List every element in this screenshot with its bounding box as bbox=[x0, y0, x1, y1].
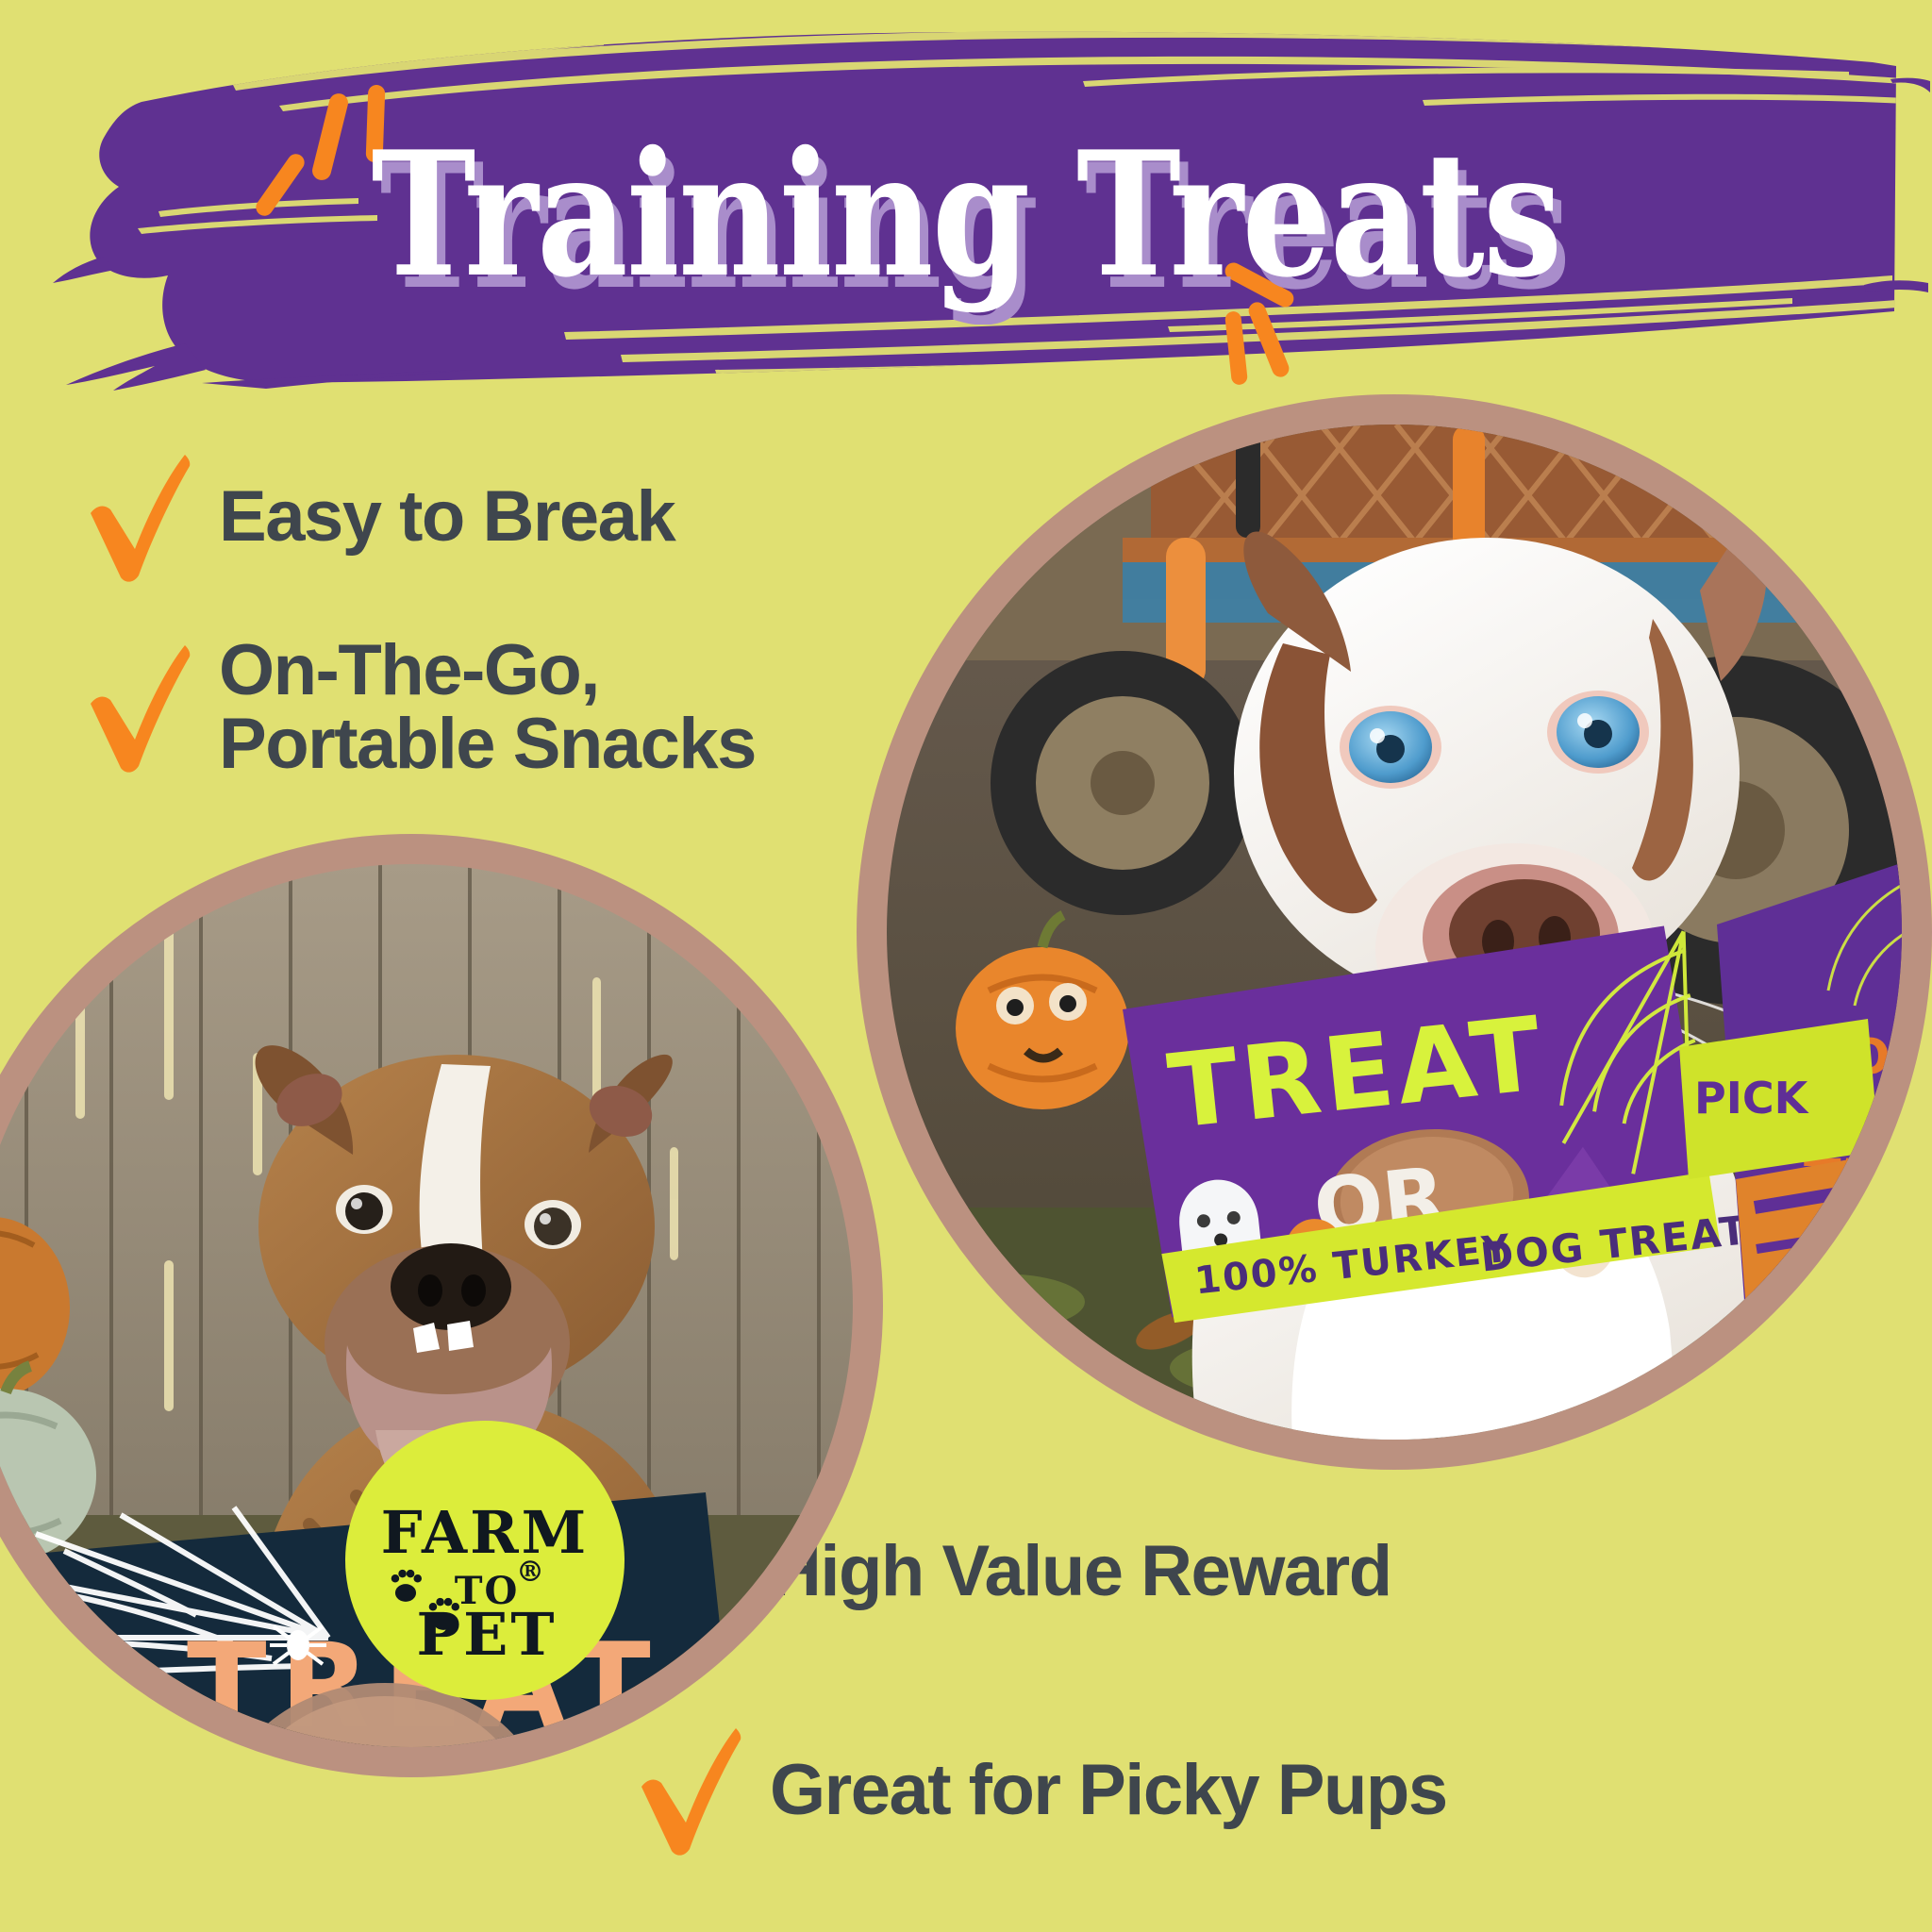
svg-text:FARM: FARM bbox=[381, 1498, 590, 1567]
svg-text:PICK: PICK bbox=[1694, 1073, 1810, 1124]
feature-label: High Value Reward bbox=[770, 1535, 1391, 1608]
page-title: Training Treats bbox=[174, 125, 1757, 305]
header-banner: Training Treats bbox=[0, 0, 1932, 443]
feature-label: Easy to Break bbox=[219, 480, 675, 554]
orange-checkmark-icon bbox=[83, 641, 194, 774]
svg-text:®: ® bbox=[516, 1556, 544, 1589]
poster-canvas: Training Treats Easy to Break On-The-Go,… bbox=[0, 0, 1932, 1932]
svg-text:PET: PET bbox=[416, 1600, 557, 1669]
feature-label: On-The-Go, Portable Snacks bbox=[219, 634, 756, 780]
photo-aussie-shepherd: TREAT OR bbox=[887, 425, 1902, 1440]
photo-bulldog: TREAT OR bbox=[0, 864, 853, 1747]
feature-easy-to-break: Easy to Break bbox=[83, 451, 675, 583]
feature-label: Great for Picky Pups bbox=[770, 1754, 1447, 1827]
feature-picky-pups: Great for Picky Pups bbox=[634, 1724, 1447, 1857]
feature-on-the-go: On-The-Go, Portable Snacks bbox=[83, 634, 756, 780]
orange-checkmark-icon bbox=[83, 451, 194, 583]
orange-checkmark-icon bbox=[634, 1724, 745, 1857]
